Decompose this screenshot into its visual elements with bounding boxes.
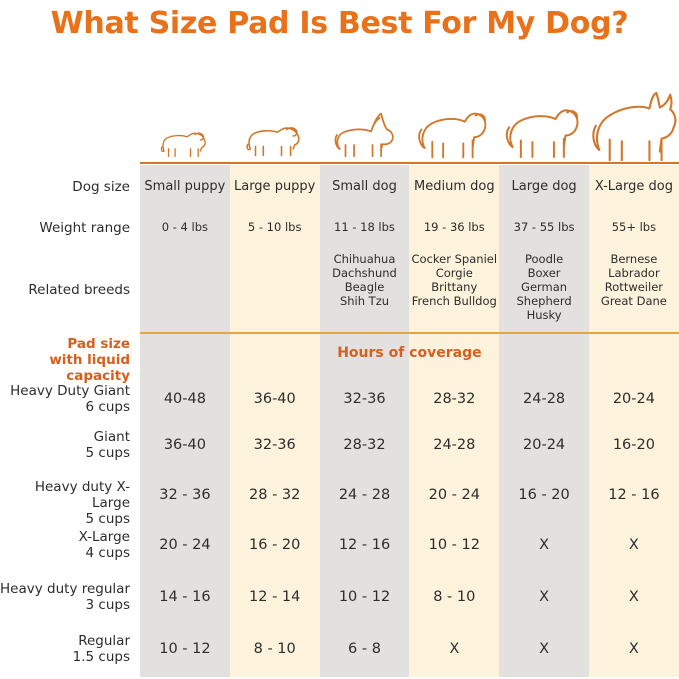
pad-row-capacity: 6 cups — [0, 399, 130, 415]
breed-item: German Shepherd — [499, 280, 589, 308]
coverage-cell-r5-c0: 10 - 12 — [140, 642, 230, 657]
breed-item: Beagle — [320, 280, 410, 294]
coverage-cell-r4-c1: 12 - 14 — [230, 590, 320, 605]
pad-row-label-2: Heavy duty X-Large5 cups — [0, 479, 130, 527]
coverage-cell-r2-c1: 28 - 32 — [230, 488, 320, 503]
coverage-cell-r3-c5: X — [589, 538, 679, 553]
coverage-cell-r4-c5: X — [589, 590, 679, 605]
coverage-cell-r2-c0: 32 - 36 — [140, 488, 230, 503]
pad-row-label-3: X-Large4 cups — [0, 529, 130, 561]
coverage-cell-r4-c2: 10 - 12 — [320, 590, 410, 605]
coverage-cell-r4-c4: X — [499, 590, 589, 605]
pad-row-name: X-Large — [0, 529, 130, 545]
breed-item: Husky — [499, 308, 589, 322]
breed-item: Shih Tzu — [320, 294, 410, 308]
dog-size-0: Small puppy — [140, 179, 230, 194]
pad-row-capacity: 4 cups — [0, 545, 130, 561]
small-dog-icon — [320, 60, 410, 162]
dog-size-3: Medium dog — [409, 179, 499, 194]
breed-item: Poodle — [499, 252, 589, 266]
row-label-weight-range: Weight range — [0, 220, 130, 236]
breed-item: Boxer — [499, 266, 589, 280]
pad-row-name: Giant — [0, 429, 130, 445]
pad-size-line2: with liquid capacity — [0, 352, 130, 384]
coverage-cell-r1-c5: 16-20 — [589, 438, 679, 453]
dog-size-4: Large dog — [499, 179, 589, 194]
coverage-cell-r3-c0: 20 - 24 — [140, 538, 230, 553]
pad-row-label-4: Heavy duty regular3 cups — [0, 581, 130, 613]
breed-item: Rottweiler — [589, 280, 679, 294]
pad-row-name: Regular — [0, 633, 130, 649]
pad-row-label-0: Heavy Duty Giant6 cups — [0, 383, 130, 415]
coverage-cell-r3-c4: X — [499, 538, 589, 553]
breed-item: Cocker Spaniel — [409, 252, 499, 266]
coverage-header: Hours of coverage — [140, 345, 679, 361]
breed-item: Dachshund — [320, 266, 410, 280]
pad-row-label-5: Regular1.5 cups — [0, 633, 130, 665]
pad-row-name: Heavy duty regular — [0, 581, 130, 597]
breed-item: Labrador — [589, 266, 679, 280]
coverage-cell-r0-c3: 28-32 — [409, 392, 499, 407]
coverage-cell-r4-c3: 8 - 10 — [409, 590, 499, 605]
dog-size-5: X-Large dog — [589, 179, 679, 194]
section-divider — [140, 332, 679, 334]
pad-row-name: Heavy duty X-Large — [0, 479, 130, 511]
pad-row-capacity: 5 cups — [0, 445, 130, 461]
coverage-cell-r1-c4: 20-24 — [499, 438, 589, 453]
coverage-cell-r0-c4: 24-28 — [499, 392, 589, 407]
large-dog-icon — [499, 60, 589, 162]
coverage-cell-r0-c5: 20-24 — [589, 392, 679, 407]
coverage-cell-r5-c3: X — [409, 642, 499, 657]
row-label-related-breeds: Related breeds — [0, 282, 130, 298]
dog-size-1: Large puppy — [230, 179, 320, 194]
coverage-cell-r1-c2: 28-32 — [320, 438, 410, 453]
related-breeds-4: PoodleBoxerGerman ShepherdHusky — [499, 252, 589, 322]
weight-range-4: 37 - 55 lbs — [499, 220, 589, 235]
coverage-cell-r2-c4: 16 - 20 — [499, 488, 589, 503]
coverage-cell-r2-c5: 12 - 16 — [589, 488, 679, 503]
row-label-dog-size: Dog size — [0, 179, 130, 195]
dog-ground-line — [140, 162, 679, 164]
coverage-cell-r5-c4: X — [499, 642, 589, 657]
pad-row-capacity: 3 cups — [0, 597, 130, 613]
coverage-cell-r4-c0: 14 - 16 — [140, 590, 230, 605]
coverage-cell-r5-c1: 8 - 10 — [230, 642, 320, 657]
coverage-cell-r0-c0: 40-48 — [140, 392, 230, 407]
weight-range-3: 19 - 36 lbs — [409, 220, 499, 235]
breed-item: Corgie — [409, 266, 499, 280]
coverage-cell-r1-c0: 36-40 — [140, 438, 230, 453]
weight-range-5: 55+ lbs — [589, 220, 679, 235]
pad-row-capacity: 1.5 cups — [0, 649, 130, 665]
pad-row-capacity: 5 cups — [0, 511, 130, 527]
coverage-cell-r5-c2: 6 - 8 — [320, 642, 410, 657]
breed-item: Great Dane — [589, 294, 679, 308]
pad-row-label-1: Giant5 cups — [0, 429, 130, 461]
small-puppy-icon — [140, 60, 230, 162]
pad-row-name: Heavy Duty Giant — [0, 383, 130, 399]
coverage-cell-r5-c5: X — [589, 642, 679, 657]
xlarge-dog-icon — [589, 60, 679, 162]
breed-item: Chihuahua — [320, 252, 410, 266]
page-title: What Size Pad Is Best For My Dog? — [0, 6, 679, 41]
coverage-cell-r0-c1: 36-40 — [230, 392, 320, 407]
coverage-cell-r0-c2: 32-36 — [320, 392, 410, 407]
weight-range-0: 0 - 4 lbs — [140, 220, 230, 235]
size-chart-table: Dog sizeWeight rangeRelated breedsPad si… — [0, 60, 679, 679]
weight-range-1: 5 - 10 lbs — [230, 220, 320, 235]
related-breeds-3: Cocker SpanielCorgieBrittanyFrench Bulld… — [409, 252, 499, 308]
coverage-cell-r3-c3: 10 - 12 — [409, 538, 499, 553]
breed-item: French Bulldog — [409, 294, 499, 308]
breed-item: Brittany — [409, 280, 499, 294]
large-puppy-icon — [230, 60, 320, 162]
medium-dog-icon — [409, 60, 499, 162]
coverage-cell-r2-c2: 24 - 28 — [320, 488, 410, 503]
breed-item: Bernese — [589, 252, 679, 266]
related-breeds-5: BerneseLabradorRottweilerGreat Dane — [589, 252, 679, 308]
coverage-cell-r2-c3: 20 - 24 — [409, 488, 499, 503]
weight-range-2: 11 - 18 lbs — [320, 220, 410, 235]
coverage-cell-r3-c1: 16 - 20 — [230, 538, 320, 553]
dog-size-2: Small dog — [320, 179, 410, 194]
coverage-cell-r1-c1: 32-36 — [230, 438, 320, 453]
pad-size-line1: Pad size — [0, 336, 130, 352]
coverage-cell-r3-c2: 12 - 16 — [320, 538, 410, 553]
row-label-pad-size: Pad sizewith liquid capacity — [0, 336, 130, 384]
related-breeds-2: ChihuahuaDachshundBeagleShih Tzu — [320, 252, 410, 308]
coverage-cell-r1-c3: 24-28 — [409, 438, 499, 453]
